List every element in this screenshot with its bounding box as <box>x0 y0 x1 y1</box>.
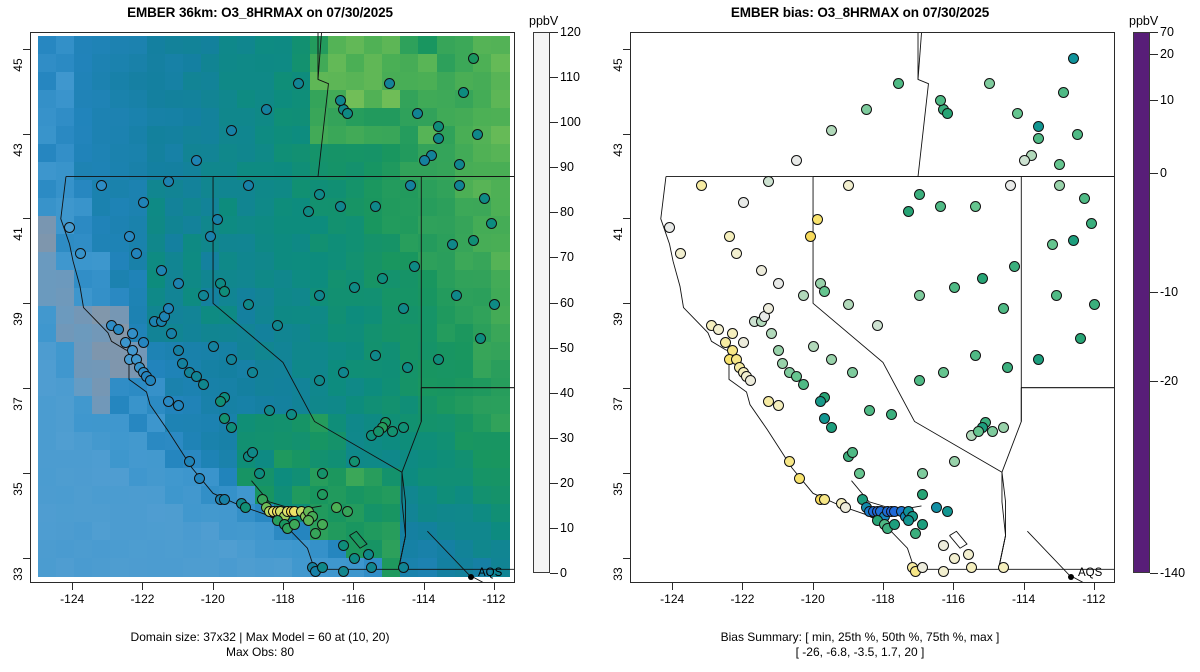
colorbar-tick <box>550 348 558 349</box>
colorbar-tick-label: 20 <box>560 476 574 490</box>
colorbar-tick <box>550 303 558 304</box>
model-map-boundaries <box>31 33 514 582</box>
colorbar-tick-label: -20 <box>1160 374 1178 388</box>
colorbar-tick <box>1150 292 1158 293</box>
aqs-station-marker[interactable] <box>886 409 897 420</box>
colorbar-tick-label: 40 <box>560 386 574 400</box>
colorbar-tick <box>550 212 558 213</box>
colorbar-unit-label: ppbV <box>529 14 558 28</box>
aqs-station-marker[interactable] <box>847 367 858 378</box>
x-axis-tick <box>142 583 143 590</box>
aqs-station-marker[interactable] <box>272 320 283 331</box>
aqs-station-marker[interactable] <box>191 155 202 166</box>
colorbar-tick-label: 80 <box>560 205 574 219</box>
x-axis-label: -124 <box>42 592 102 606</box>
aqs-station-marker[interactable] <box>1033 121 1044 132</box>
aqs-station-marker[interactable] <box>261 104 272 115</box>
aqs-station-marker[interactable] <box>198 379 209 390</box>
aqs-station-marker[interactable] <box>314 189 325 200</box>
x-axis-label: -118 <box>853 592 913 606</box>
y-axis-label: 41 <box>11 217 25 251</box>
y-axis-label: 43 <box>611 133 625 167</box>
x-axis-label: -114 <box>994 592 1054 606</box>
colorbar-tick-label: 30 <box>560 431 574 445</box>
aqs-station-marker[interactable] <box>240 502 251 513</box>
colorbar-tick <box>550 77 558 78</box>
colorbar-tick <box>550 528 558 529</box>
x-axis-tick <box>813 583 814 590</box>
aqs-station-marker[interactable] <box>433 121 444 132</box>
aqs-station-marker[interactable] <box>798 290 809 301</box>
aqs-station-marker[interactable] <box>738 337 749 348</box>
colorbar-tick <box>550 573 558 574</box>
aqs-station-marker[interactable] <box>349 456 360 467</box>
y-axis-label: 45 <box>611 48 625 82</box>
aqs-station-marker[interactable] <box>398 303 409 314</box>
colorbar-tick <box>550 32 558 33</box>
aqs-station-marker[interactable] <box>163 396 174 407</box>
aqs-station-marker[interactable] <box>963 549 974 560</box>
colorbar-gradient <box>533 32 550 573</box>
aqs-station-marker[interactable] <box>812 214 823 225</box>
x-axis-tick <box>953 583 954 590</box>
boundary-path <box>318 33 321 79</box>
aqs-station-marker[interactable] <box>794 473 805 484</box>
aqs-station-marker[interactable] <box>819 494 830 505</box>
x-axis-label: -124 <box>642 592 702 606</box>
aqs-station-marker[interactable] <box>198 290 209 301</box>
x-axis-label: -120 <box>183 592 243 606</box>
aqs-station-marker[interactable] <box>398 422 409 433</box>
colorbar-tick-label: 90 <box>560 160 574 174</box>
colorbar-tick <box>550 257 558 258</box>
aqs-station-marker[interactable] <box>1051 290 1062 301</box>
aqs-station-marker[interactable] <box>847 447 858 458</box>
colorbar-tick <box>550 167 558 168</box>
aqs-station-marker[interactable] <box>194 473 205 484</box>
aqs-station-marker[interactable] <box>314 290 325 301</box>
x-axis-tick <box>424 583 425 590</box>
aqs-station-marker[interactable] <box>826 354 837 365</box>
aqs-station-marker[interactable] <box>205 231 216 242</box>
colorbar-tick-label: 20 <box>1160 47 1174 61</box>
aqs-station-marker[interactable] <box>998 562 1009 573</box>
x-axis-tick <box>353 583 354 590</box>
aqs-station-marker[interactable] <box>212 214 223 225</box>
x-axis-label: -116 <box>323 592 383 606</box>
aqs-station-marker[interactable] <box>145 375 156 386</box>
aqs-station-marker[interactable] <box>861 104 872 115</box>
y-axis-label: 43 <box>11 133 25 167</box>
colorbar-tick <box>1150 573 1158 574</box>
y-axis-label: 33 <box>611 557 625 591</box>
aqs-station-marker[interactable] <box>998 422 1009 433</box>
aqs-station-marker[interactable] <box>451 290 462 301</box>
aqs-station-marker[interactable] <box>303 515 314 526</box>
aqs-station-marker[interactable] <box>745 375 756 386</box>
aqs-station-marker[interactable] <box>1075 333 1086 344</box>
colorbar-tick <box>550 393 558 394</box>
boundary-path <box>918 33 921 79</box>
colorbar-tick <box>550 438 558 439</box>
aqs-station-marker[interactable] <box>872 320 883 331</box>
aqs-station-marker[interactable] <box>763 303 774 314</box>
aqs-station-marker[interactable] <box>226 422 237 433</box>
y-axis-label: 35 <box>11 472 25 506</box>
aqs-legend-dot <box>1068 574 1074 580</box>
colorbar-tick-label: 110 <box>560 70 580 84</box>
colorbar-unit-label: ppbV <box>1129 14 1158 28</box>
aqs-station-marker[interactable] <box>138 197 149 208</box>
colorbar-tick <box>550 122 558 123</box>
aqs-station-marker[interactable] <box>409 261 420 272</box>
aqs-station-marker[interactable] <box>798 379 809 390</box>
colorbar-tick-label: 70 <box>560 250 574 264</box>
aqs-station-marker[interactable] <box>1002 362 1013 373</box>
aqs-station-marker[interactable] <box>138 337 149 348</box>
colorbar-tick <box>1150 100 1158 101</box>
aqs-station-marker[interactable] <box>966 562 977 573</box>
aqs-station-marker[interactable] <box>675 248 686 259</box>
colorbar-tick <box>1150 54 1158 55</box>
model-panel-title: EMBER 36km: O3_8HRMAX on 07/30/2025 <box>0 5 520 20</box>
bias-panel-title: EMBER bias: O3_8HRMAX on 07/30/2025 <box>600 5 1120 20</box>
aqs-station-marker[interactable] <box>1079 193 1090 204</box>
x-axis-tick <box>283 583 284 590</box>
colorbar-tick-label: 70 <box>1160 25 1174 39</box>
aqs-station-marker[interactable] <box>75 248 86 259</box>
aqs-station-marker[interactable] <box>938 367 949 378</box>
y-axis-label: 33 <box>11 557 25 591</box>
model-footer-line1: Domain size: 37x32 | Max Model = 60 at (… <box>0 630 520 645</box>
colorbar-tick-label: 10 <box>1160 93 1174 107</box>
x-axis-label: -118 <box>253 592 313 606</box>
x-axis-label: -120 <box>783 592 843 606</box>
colorbar-tick-label: 0 <box>1160 166 1167 180</box>
aqs-station-marker[interactable] <box>1033 354 1044 365</box>
aqs-station-marker[interactable] <box>1058 87 1069 98</box>
aqs-station-marker[interactable] <box>805 231 816 242</box>
colorbar-tick <box>1150 381 1158 382</box>
aqs-station-marker[interactable] <box>349 282 360 293</box>
aqs-station-marker[interactable] <box>738 197 749 208</box>
colorbar-tick-label: -10 <box>1160 285 1178 299</box>
aqs-station-marker[interactable] <box>724 231 735 242</box>
aqs-station-marker[interactable] <box>696 180 707 191</box>
aqs-station-marker[interactable] <box>938 566 949 577</box>
aqs-station-marker[interactable] <box>791 155 802 166</box>
x-axis-tick <box>494 583 495 590</box>
colorbar-tick-label: 0 <box>560 566 567 580</box>
aqs-station-marker[interactable] <box>893 78 904 89</box>
aqs-station-marker[interactable] <box>338 367 349 378</box>
x-axis-tick <box>72 583 73 590</box>
aqs-station-marker[interactable] <box>342 108 353 119</box>
aqs-station-marker[interactable] <box>475 333 486 344</box>
aqs-station-marker[interactable] <box>163 303 174 314</box>
aqs-station-marker[interactable] <box>903 206 914 217</box>
x-axis-label: -112 <box>464 592 524 606</box>
aqs-station-marker[interactable] <box>226 354 237 365</box>
model-panel: EMBER 36km: O3_8HRMAX on 07/30/2025 AQS … <box>0 0 600 672</box>
aqs-legend-label: AQS <box>1078 567 1102 579</box>
aqs-station-marker[interactable] <box>156 265 167 276</box>
aqs-station-marker[interactable] <box>286 409 297 420</box>
colorbar-tick-label: 50 <box>560 341 574 355</box>
y-axis-label: 39 <box>611 302 625 336</box>
aqs-station-marker[interactable] <box>335 201 346 212</box>
aqs-station-marker[interactable] <box>1019 155 1030 166</box>
aqs-station-marker[interactable] <box>917 562 928 573</box>
aqs-station-marker[interactable] <box>173 278 184 289</box>
aqs-station-marker[interactable] <box>433 354 444 365</box>
aqs-station-marker[interactable] <box>293 78 304 89</box>
aqs-station-marker[interactable] <box>914 290 925 301</box>
x-axis-tick <box>742 583 743 590</box>
aqs-station-marker[interactable] <box>349 553 360 564</box>
aqs-station-marker[interactable] <box>419 155 430 166</box>
model-footer-line2: Max Obs: 80 <box>0 645 520 660</box>
y-axis-label: 37 <box>11 387 25 421</box>
colorbar-tick <box>1150 173 1158 174</box>
aqs-station-marker[interactable] <box>773 278 784 289</box>
aqs-station-marker[interactable] <box>247 367 258 378</box>
colorbar-tick-label: -140 <box>1160 566 1185 580</box>
aqs-station-marker[interactable] <box>819 286 830 297</box>
y-axis-label: 35 <box>611 472 625 506</box>
boundary-path <box>949 531 967 548</box>
colorbar-tick-label: 100 <box>560 115 581 129</box>
aqs-station-marker[interactable] <box>998 303 1009 314</box>
aqs-station-marker[interactable] <box>124 231 135 242</box>
x-axis-label: -112 <box>1064 592 1124 606</box>
aqs-station-marker[interactable] <box>370 350 381 361</box>
x-axis-tick <box>883 583 884 590</box>
x-axis-tick <box>1024 583 1025 590</box>
aqs-station-marker[interactable] <box>219 494 230 505</box>
aqs-legend-label: AQS <box>478 567 502 579</box>
aqs-station-marker[interactable] <box>731 248 742 259</box>
aqs-station-marker[interactable] <box>338 566 349 577</box>
colorbar-tick-label: 120 <box>560 25 581 39</box>
bias-panel: EMBER bias: O3_8HRMAX on 07/30/2025 AQS … <box>600 0 1200 672</box>
colorbar-gradient <box>1133 32 1150 573</box>
aqs-station-marker[interactable] <box>914 375 925 386</box>
x-axis-label: -122 <box>112 592 172 606</box>
aqs-station-marker[interactable] <box>184 456 195 467</box>
colorbar-tick-label: 60 <box>560 296 574 310</box>
colorbar-tick <box>550 483 558 484</box>
aqs-station-marker[interactable] <box>914 189 925 200</box>
aqs-station-marker[interactable] <box>402 362 413 373</box>
aqs-station-marker[interactable] <box>903 515 914 526</box>
aqs-station-marker[interactable] <box>942 108 953 119</box>
aqs-station-marker[interactable] <box>826 125 837 136</box>
aqs-legend-dot <box>468 574 474 580</box>
colorbar-tick-label: 10 <box>560 521 574 535</box>
y-axis-label: 37 <box>611 387 625 421</box>
aqs-station-marker[interactable] <box>303 206 314 217</box>
x-axis-tick <box>213 583 214 590</box>
aqs-station-marker[interactable] <box>949 282 960 293</box>
aqs-station-marker[interactable] <box>949 456 960 467</box>
aqs-station-marker[interactable] <box>398 562 409 573</box>
aqs-station-marker[interactable] <box>840 502 851 513</box>
x-axis-label: -122 <box>712 592 772 606</box>
aqs-station-marker[interactable] <box>479 193 490 204</box>
aqs-station-marker[interactable] <box>472 129 483 140</box>
y-axis-label: 39 <box>11 302 25 336</box>
aqs-station-marker[interactable] <box>1009 261 1020 272</box>
aqs-station-marker[interactable] <box>363 549 374 560</box>
aqs-station-marker[interactable] <box>763 176 774 187</box>
aqs-station-marker[interactable] <box>756 265 767 276</box>
boundary-path <box>349 531 367 548</box>
aqs-station-marker[interactable] <box>314 375 325 386</box>
colorbar-tick <box>1150 32 1158 33</box>
y-axis-label: 41 <box>611 217 625 251</box>
x-axis-label: -116 <box>923 592 983 606</box>
aqs-station-marker[interactable] <box>1072 129 1083 140</box>
aqs-station-marker[interactable] <box>826 422 837 433</box>
aqs-station-marker[interactable] <box>784 456 795 467</box>
y-axis-label: 45 <box>11 48 25 82</box>
aqs-station-marker[interactable] <box>763 396 774 407</box>
aqs-station-marker[interactable] <box>458 87 469 98</box>
bias-map-boundaries <box>631 33 1114 582</box>
aqs-station-marker[interactable] <box>247 447 258 458</box>
aqs-station-marker[interactable] <box>226 125 237 136</box>
bias-map-plot[interactable]: AQS <box>630 32 1115 583</box>
bias-footer-line2: [ -26, -6.8, -3.5, 1.7, 20 ] <box>600 645 1120 660</box>
model-map-plot[interactable]: AQS <box>30 32 515 583</box>
aqs-station-marker[interactable] <box>96 180 107 191</box>
aqs-station-marker[interactable] <box>131 248 142 259</box>
aqs-station-marker[interactable] <box>317 562 328 573</box>
aqs-station-marker[interactable] <box>366 562 377 573</box>
aqs-station-marker[interactable] <box>219 286 230 297</box>
x-axis-tick <box>1094 583 1095 590</box>
bias-footer-line1: Bias Summary: [ min, 25th %, 50th %, 75t… <box>600 630 1120 645</box>
aqs-station-marker[interactable] <box>970 350 981 361</box>
x-axis-tick <box>672 583 673 590</box>
aqs-station-marker[interactable] <box>935 201 946 212</box>
aqs-station-marker[interactable] <box>949 553 960 564</box>
x-axis-label: -114 <box>394 592 454 606</box>
aqs-station-marker[interactable] <box>163 176 174 187</box>
